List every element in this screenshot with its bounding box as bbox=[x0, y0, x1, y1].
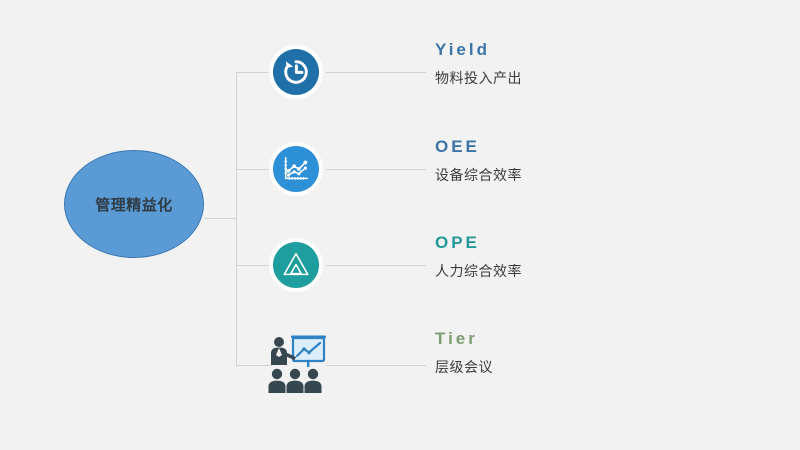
slide-canvas: 管理精益化 Yield 物料投入产出 bbox=[0, 0, 800, 450]
kpi-subtitle-yield: 物料投入产出 bbox=[435, 66, 522, 90]
central-node-label: 管理精益化 bbox=[95, 194, 173, 215]
clock-history-icon[interactable] bbox=[273, 49, 319, 95]
kpi-subtitle-tier: 层级会议 bbox=[435, 355, 493, 379]
icon-slot-oee bbox=[260, 133, 332, 205]
kpi-title-yield: Yield bbox=[435, 38, 522, 62]
text-block-yield: Yield 物料投入产出 bbox=[435, 38, 522, 90]
icon-slot-tier bbox=[260, 329, 332, 401]
icon-slot-ope bbox=[260, 229, 332, 301]
connector-hub-to-trunk bbox=[204, 218, 236, 219]
text-block-oee: OEE 设备综合效率 bbox=[435, 135, 522, 187]
kpi-title-ope: OPE bbox=[435, 231, 522, 255]
kpi-subtitle-oee: 设备综合效率 bbox=[435, 163, 522, 187]
branch-row-tier[interactable]: Tier 层级会议 bbox=[260, 329, 800, 401]
text-block-ope: OPE 人力综合效率 bbox=[435, 231, 522, 283]
kpi-title-oee: OEE bbox=[435, 135, 522, 159]
connector-trunk bbox=[236, 72, 237, 365]
line-chart-icon[interactable] bbox=[273, 146, 319, 192]
triangle-pyramid-icon[interactable] bbox=[273, 242, 319, 288]
meeting-presentation-icon[interactable] bbox=[265, 333, 327, 397]
icon-slot-yield bbox=[260, 36, 332, 108]
kpi-title-tier: Tier bbox=[435, 327, 493, 351]
branch-row-oee[interactable]: OEE 设备综合效率 bbox=[260, 133, 800, 205]
branch-row-yield[interactable]: Yield 物料投入产出 bbox=[260, 36, 800, 108]
central-node-ellipse[interactable]: 管理精益化 bbox=[64, 150, 204, 258]
text-block-tier: Tier 层级会议 bbox=[435, 327, 493, 379]
kpi-subtitle-ope: 人力综合效率 bbox=[435, 259, 522, 283]
branch-row-ope[interactable]: OPE 人力综合效率 bbox=[260, 229, 800, 301]
